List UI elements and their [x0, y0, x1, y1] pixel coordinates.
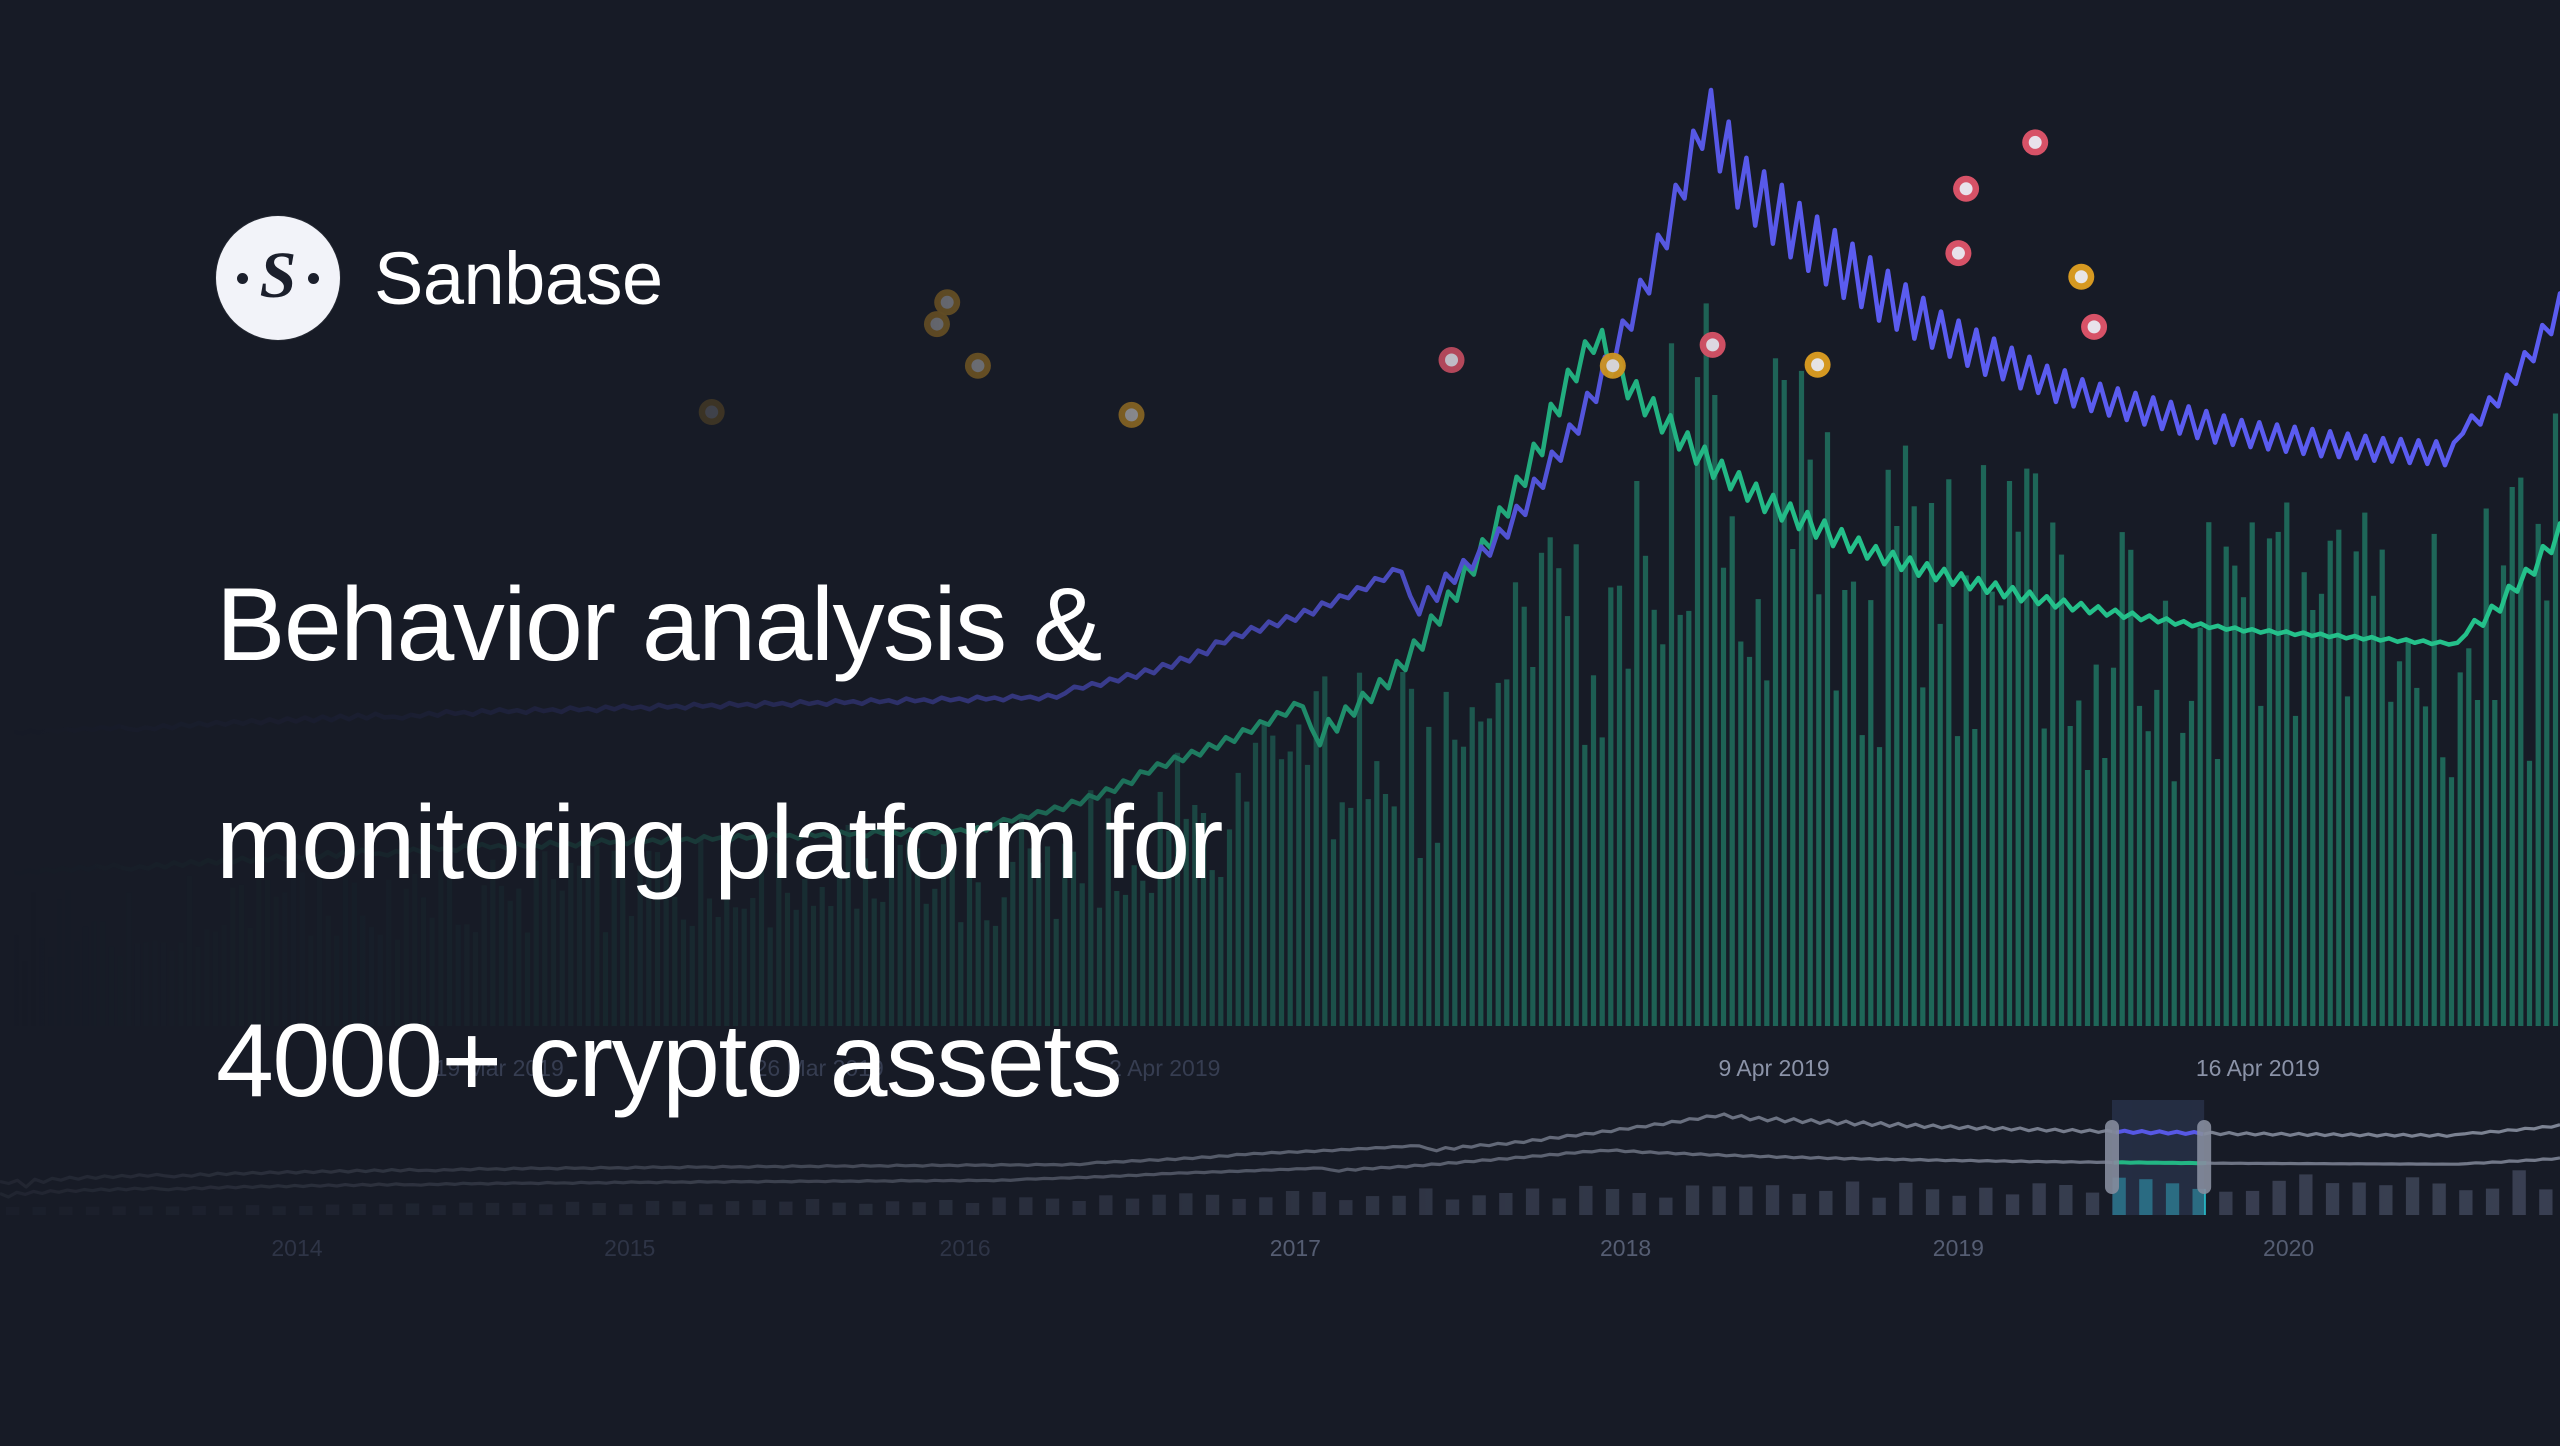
hero-content: S Sanbase Behavior analysis & monitoring… — [0, 0, 2560, 1446]
headline-line-2: monitoring platform for — [216, 734, 1776, 952]
brand-lockup[interactable]: S Sanbase — [216, 216, 663, 340]
page-title: Behavior analysis & monitoring platform … — [216, 516, 1776, 1170]
hero-section: 19 Mar 201926 Mar 20192 Apr 20199 Apr 20… — [0, 0, 2560, 1446]
headline-line-1: Behavior analysis & — [216, 516, 1776, 734]
logo-dot-right — [308, 273, 319, 284]
logo-dot-left — [237, 273, 248, 284]
sanbase-logo-icon: S — [216, 216, 340, 340]
headline-line-3: 4000+ crypto assets — [216, 952, 1776, 1170]
brand-name: Sanbase — [374, 236, 663, 321]
logo-letter: S — [260, 243, 297, 309]
